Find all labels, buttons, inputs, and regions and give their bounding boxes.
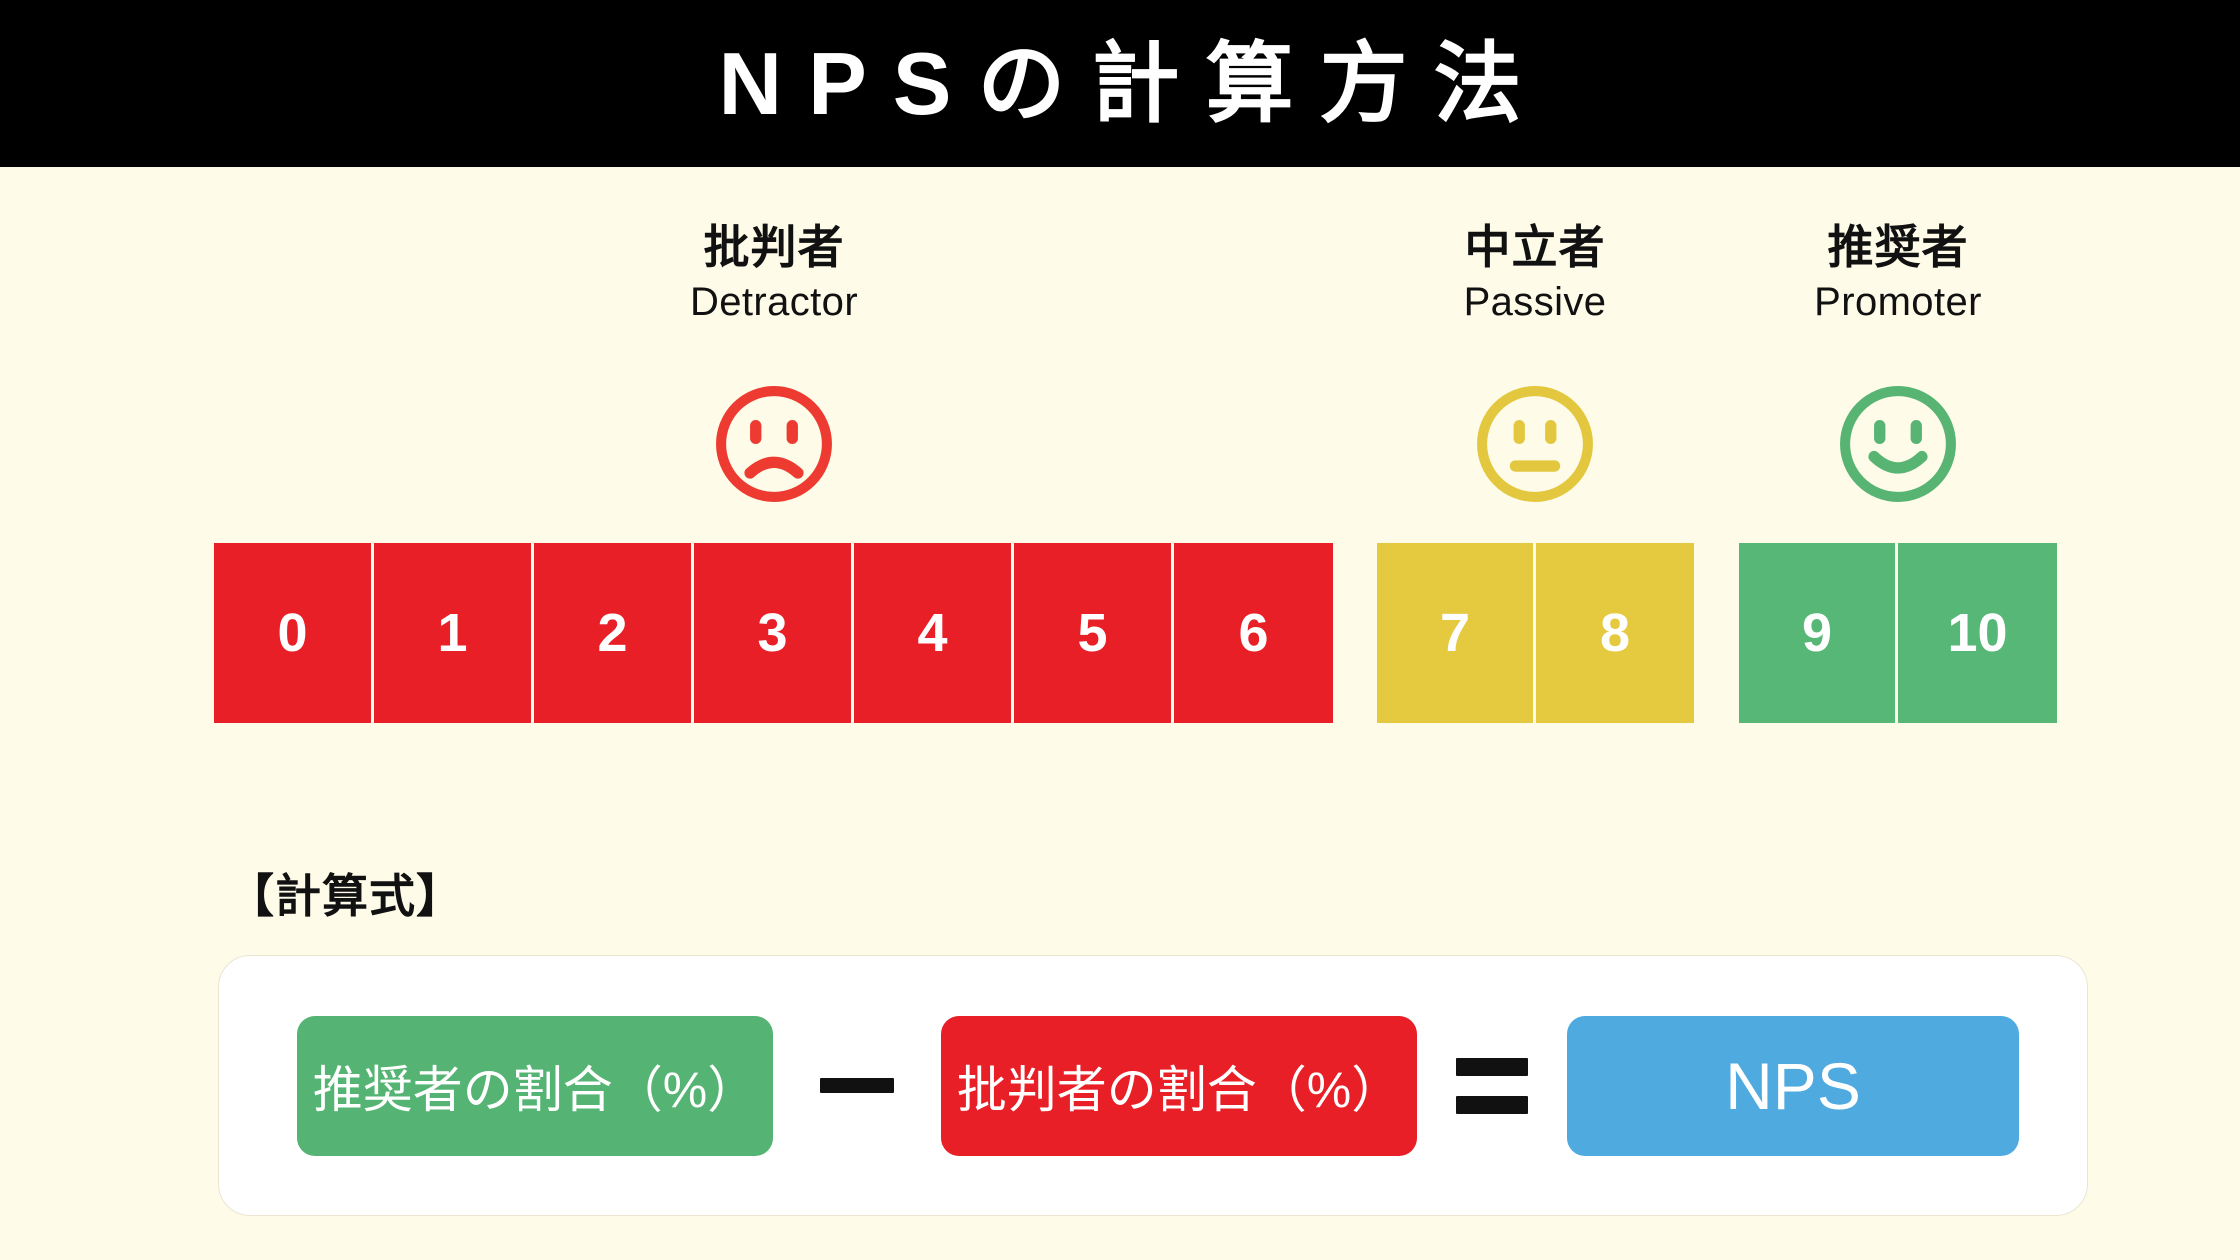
segment-label-promoter-jp: 推奨者 bbox=[1698, 222, 2098, 274]
segment-label-promoter: 推奨者 Promoter bbox=[1698, 222, 2098, 324]
formula-result-term: NPS bbox=[1567, 1016, 2019, 1156]
segment-label-detractor-jp: 批判者 bbox=[574, 222, 974, 274]
page-title: NPSの計算方法 bbox=[0, 0, 2240, 167]
formula-row: 推奨者の割合（%） 批判者の割合（%） NPS bbox=[219, 1016, 2087, 1156]
score-tile[interactable]: 8 bbox=[1536, 543, 1694, 723]
segment-label-passive-jp: 中立者 bbox=[1335, 222, 1735, 274]
neutral-face-icon bbox=[1472, 381, 1598, 507]
score-tile[interactable]: 7 bbox=[1377, 543, 1536, 723]
score-tile[interactable]: 9 bbox=[1739, 543, 1898, 723]
segment-label-detractor: 批判者 Detractor bbox=[574, 222, 974, 324]
smiling-face-icon bbox=[1835, 381, 1961, 507]
formula-card: 推奨者の割合（%） 批判者の割合（%） NPS bbox=[218, 955, 2088, 1216]
segment-label-passive-en: Passive bbox=[1335, 280, 1735, 325]
segment-label-detractor-en: Detractor bbox=[574, 280, 974, 325]
score-tile[interactable]: 10 bbox=[1898, 543, 2057, 723]
score-tiles-promoter: 9 10 bbox=[1739, 543, 2057, 723]
minus-bar bbox=[820, 1078, 894, 1093]
infographic-canvas: NPSの計算方法 批判者 Detractor 中立者 Passive 推奨者 P… bbox=[0, 0, 2240, 1260]
formula-detractor-term: 批判者の割合（%） bbox=[941, 1016, 1417, 1156]
equals-operator-icon bbox=[1417, 1058, 1567, 1114]
score-tile[interactable]: 5 bbox=[1014, 543, 1174, 723]
score-tiles-detractor: 0 1 2 3 4 5 6 bbox=[214, 543, 1333, 723]
score-tiles-passive: 7 8 bbox=[1377, 543, 1694, 723]
equals-bar-bottom bbox=[1456, 1096, 1528, 1114]
segment-label-passive: 中立者 Passive bbox=[1335, 222, 1735, 324]
score-tile[interactable]: 6 bbox=[1174, 543, 1333, 723]
sad-face-icon bbox=[711, 381, 837, 507]
score-tile[interactable]: 2 bbox=[534, 543, 694, 723]
equals-bar-top bbox=[1456, 1058, 1528, 1076]
score-tile[interactable]: 0 bbox=[214, 543, 374, 723]
minus-operator-icon bbox=[773, 1078, 941, 1093]
score-tile[interactable]: 4 bbox=[854, 543, 1014, 723]
formula-promoter-term: 推奨者の割合（%） bbox=[297, 1016, 773, 1156]
formula-heading: 【計算式】 bbox=[228, 860, 463, 926]
score-tile[interactable]: 1 bbox=[374, 543, 534, 723]
score-tile[interactable]: 3 bbox=[694, 543, 854, 723]
segment-label-promoter-en: Promoter bbox=[1698, 280, 2098, 325]
